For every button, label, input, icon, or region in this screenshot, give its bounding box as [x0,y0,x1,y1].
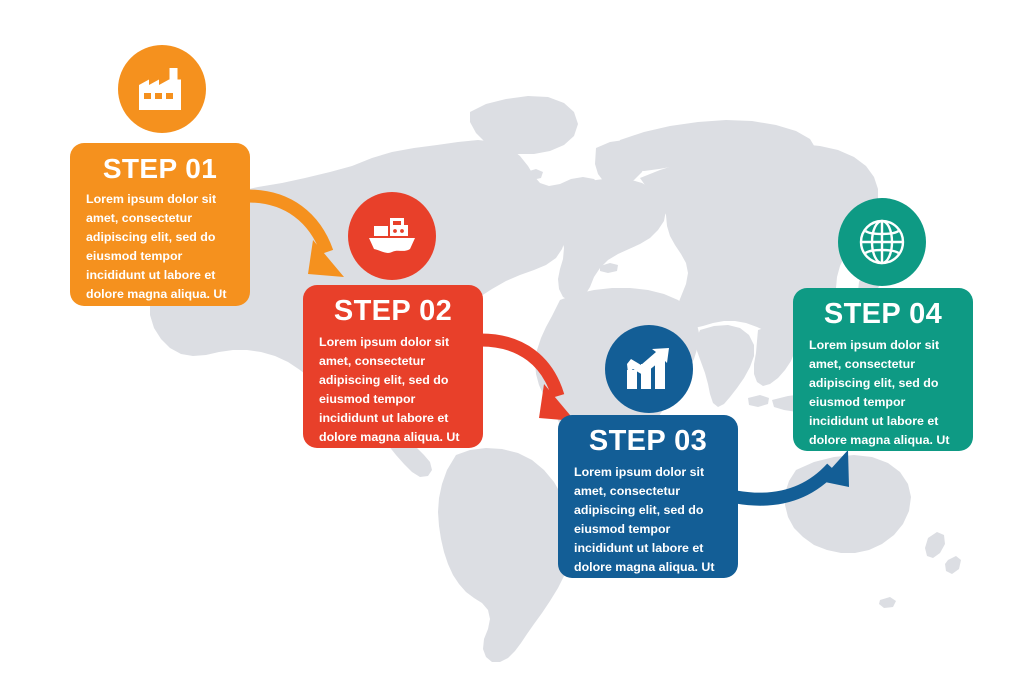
globe-icon [858,218,906,266]
step-01-body: Lorem ipsum dolor sit amet, consectetur … [86,190,234,303]
arrow-step2-to-step3 [481,340,575,421]
step-02-panel[interactable]: STEP 02 Lorem ipsum dolor sit amet, cons… [303,285,483,448]
step-03-panel[interactable]: STEP 03 Lorem ipsum dolor sit amet, cons… [558,415,738,578]
step-02-title: STEP 02 [319,295,467,327]
step-03-icon-badge[interactable] [605,325,693,413]
step-04-title: STEP 04 [809,298,957,330]
step-04-icon-badge[interactable] [838,198,926,286]
step-03-body: Lorem ipsum dolor sit amet, consectetur … [574,463,722,576]
arrow-step1-to-step2 [248,196,344,277]
step-01-panel[interactable]: STEP 01 Lorem ipsum dolor sit amet, cons… [70,143,250,306]
growth-chart-icon [625,348,673,390]
infographic-canvas: STEP 01 Lorem ipsum dolor sit amet, cons… [0,0,1024,682]
arrow-step3-to-step4 [736,450,849,499]
step-02-icon-badge[interactable] [348,192,436,280]
cargo-ship-icon [368,216,416,256]
step-04-body: Lorem ipsum dolor sit amet, consectetur … [809,336,957,449]
step-03-title: STEP 03 [574,425,722,457]
step-01-title: STEP 01 [86,153,234,184]
step-04-panel[interactable]: STEP 04 Lorem ipsum dolor sit amet, cons… [793,288,973,451]
step-02-body: Lorem ipsum dolor sit amet, consectetur … [319,333,467,446]
factory-icon [139,68,185,110]
step-01-icon-badge[interactable] [118,45,206,133]
